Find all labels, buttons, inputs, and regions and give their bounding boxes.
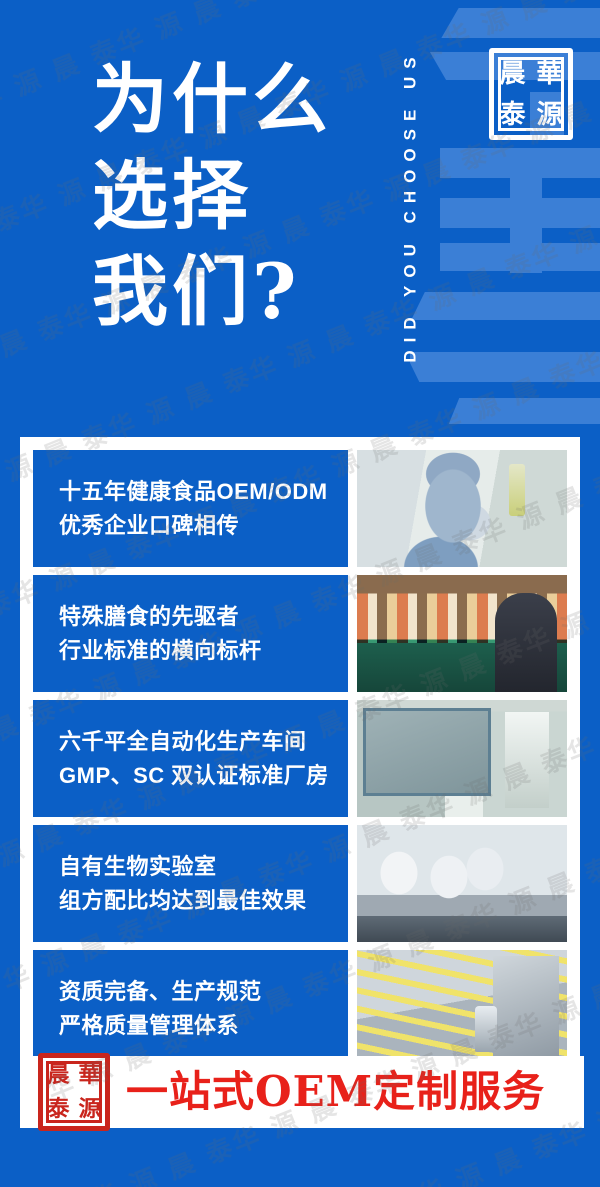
headline-line-3: 我们? <box>92 244 392 340</box>
seal-char-3: 泰 <box>499 102 525 128</box>
seal-char-4: 源 <box>78 1098 100 1120</box>
vertical-english-tagline: DID YOU CHOOSE US <box>396 18 426 394</box>
watermark-tile: 华 源 晨 泰 <box>271 1179 456 1187</box>
photo-fill <box>357 825 567 942</box>
feature-line-2: 优秀企业口碑相传 <box>59 509 348 543</box>
lab-technician-photo <box>357 450 567 567</box>
photo-fill <box>357 575 567 692</box>
seal-char-1: 晨 <box>47 1064 69 1086</box>
feature-text-block: 六千平全自动化生产车间 GMP、SC 双认证标准厂房 <box>33 700 348 817</box>
feature-line-1: 自有生物实验室 <box>59 850 348 884</box>
footer-slogan-banner: 晨 華 泰 源 一站式OEM定制服务 <box>20 1056 584 1128</box>
feature-item: 特殊膳食的先驱者 行业标准的横向标杆 <box>33 575 567 692</box>
feature-line-2: 严格质量管理体系 <box>59 1009 348 1043</box>
feature-line-2: GMP、SC 双认证标准厂房 <box>59 759 348 793</box>
seal-char-2: 華 <box>536 61 562 87</box>
headline-line-1: 为什么 <box>92 52 392 148</box>
watermark-tile: 华 源 晨 泰 <box>412 1122 597 1187</box>
photo-fill <box>357 450 567 567</box>
feature-text-block: 十五年健康食品OEM/ODM 优秀企业口碑相传 <box>33 450 348 567</box>
poster-canvas: 为什么 选择 我们? DID YOU CHOOSE US 晨 華 泰 源 十五年… <box>0 0 600 1187</box>
vertical-english-text: DID YOU CHOOSE US <box>401 49 421 362</box>
watermark-tile: 华 源 晨 泰 <box>85 1126 270 1187</box>
conference-audience-photo <box>357 575 567 692</box>
headline-block: 为什么 选择 我们? <box>92 52 392 340</box>
photo-fill <box>357 700 567 817</box>
feature-list: 十五年健康食品OEM/ODM 优秀企业口碑相传 特殊膳食的先驱者 行业标准的横向… <box>20 437 580 1080</box>
feature-line-2: 行业标准的横向标杆 <box>59 634 348 668</box>
feature-item: 十五年健康食品OEM/ODM 优秀企业口碑相传 <box>33 450 567 567</box>
seal-char-4: 源 <box>536 102 562 128</box>
company-seal-logo-red: 晨 華 泰 源 <box>38 1053 110 1131</box>
feature-text-block: 资质完备、生产规范 严格质量管理体系 <box>33 950 348 1067</box>
feature-line-2: 组方配比均达到最佳效果 <box>59 884 348 918</box>
feature-text-block: 特殊膳食的先驱者 行业标准的横向标杆 <box>33 575 348 692</box>
feature-line-1: 特殊膳食的先驱者 <box>59 600 348 634</box>
footer-slogan-text: 一站式OEM定制服务 <box>126 1071 545 1113</box>
feature-item: 自有生物实验室 组方配比均达到最佳效果 <box>33 825 567 942</box>
feature-line-1: 资质完备、生产规范 <box>59 975 348 1009</box>
feature-line-1: 六千平全自动化生产车间 <box>59 725 348 759</box>
blister-packing-machine-photo <box>357 950 567 1067</box>
feature-item: 资质完备、生产规范 严格质量管理体系 <box>33 950 567 1067</box>
headline-line-2: 选择 <box>92 148 392 244</box>
seal-char-1: 晨 <box>499 61 525 87</box>
seal-char-3: 泰 <box>47 1098 69 1120</box>
watermark-tile: 华 源 晨 泰 <box>0 470 5 636</box>
feature-line-1: 十五年健康食品OEM/ODM <box>59 475 348 509</box>
poster-header: 为什么 选择 我们? DID YOU CHOOSE US 晨 華 泰 源 <box>0 0 600 437</box>
company-seal-logo-white: 晨 華 泰 源 <box>489 48 573 140</box>
production-line-workers-photo <box>357 825 567 942</box>
photo-fill <box>357 950 567 1067</box>
feature-item: 六千平全自动化生产车间 GMP、SC 双认证标准厂房 <box>33 700 567 817</box>
cleanroom-corridor-photo <box>357 700 567 817</box>
feature-text-block: 自有生物实验室 组方配比均达到最佳效果 <box>33 825 348 942</box>
seal-char-2: 華 <box>78 1064 100 1086</box>
